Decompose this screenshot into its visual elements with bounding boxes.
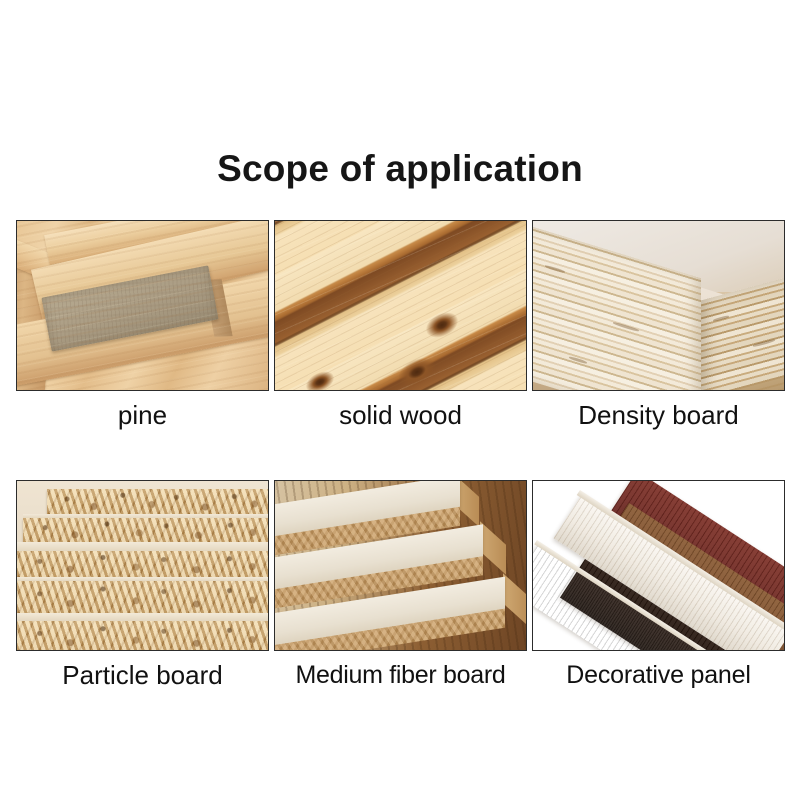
gallery-item-density-board[interactable]: Density board bbox=[532, 220, 785, 432]
caption-pine: pine bbox=[16, 398, 269, 432]
ply-flake bbox=[713, 315, 729, 322]
gallery-item-solid-wood[interactable]: solid wood bbox=[274, 220, 527, 432]
particle-board-photo[interactable] bbox=[16, 480, 269, 651]
particle-board-gap bbox=[17, 577, 269, 581]
gallery-row: pine solid wood bbox=[16, 220, 785, 432]
density-board-photo[interactable] bbox=[532, 220, 785, 391]
medium-fiber-board-photo[interactable] bbox=[274, 480, 527, 651]
particle-board-slab bbox=[17, 621, 269, 651]
caption-density-board: Density board bbox=[532, 398, 785, 432]
decorative-panel-photo[interactable] bbox=[532, 480, 785, 651]
particle-board-slab bbox=[17, 551, 269, 577]
particle-board-gap bbox=[17, 613, 269, 621]
pine-lumber-photo[interactable] bbox=[16, 220, 269, 391]
ply-flake bbox=[545, 265, 565, 274]
particle-board-slab bbox=[23, 518, 269, 542]
ply-flake bbox=[613, 321, 639, 332]
caption-medium-fiber-board: Medium fiber board bbox=[274, 658, 527, 692]
gallery-item-particle-board[interactable]: Particle board bbox=[16, 480, 269, 692]
solid-wood-grain-overlay bbox=[275, 221, 526, 390]
gallery-item-medium-fiber-board[interactable]: Medium fiber board bbox=[274, 480, 527, 692]
caption-particle-board: Particle board bbox=[16, 658, 269, 692]
particle-board-gap bbox=[17, 542, 269, 551]
particle-board-gap bbox=[23, 514, 269, 518]
ply-flake bbox=[569, 356, 587, 365]
material-gallery: pine solid wood bbox=[16, 220, 785, 692]
infographic-page: Scope of application pine bbox=[0, 0, 800, 800]
particle-board-slab bbox=[17, 581, 269, 613]
ply-flake bbox=[753, 339, 775, 348]
gallery-item-pine[interactable]: pine bbox=[16, 220, 269, 432]
caption-solid-wood: solid wood bbox=[274, 398, 527, 432]
gallery-item-decorative-panel[interactable]: Decorative panel bbox=[532, 480, 785, 692]
caption-decorative-panel: Decorative panel bbox=[532, 658, 785, 692]
gallery-row: Particle board Medium fiber bbox=[16, 480, 785, 692]
page-title: Scope of application bbox=[0, 146, 800, 192]
solid-wood-photo[interactable] bbox=[274, 220, 527, 391]
particle-board-slab bbox=[47, 489, 269, 514]
